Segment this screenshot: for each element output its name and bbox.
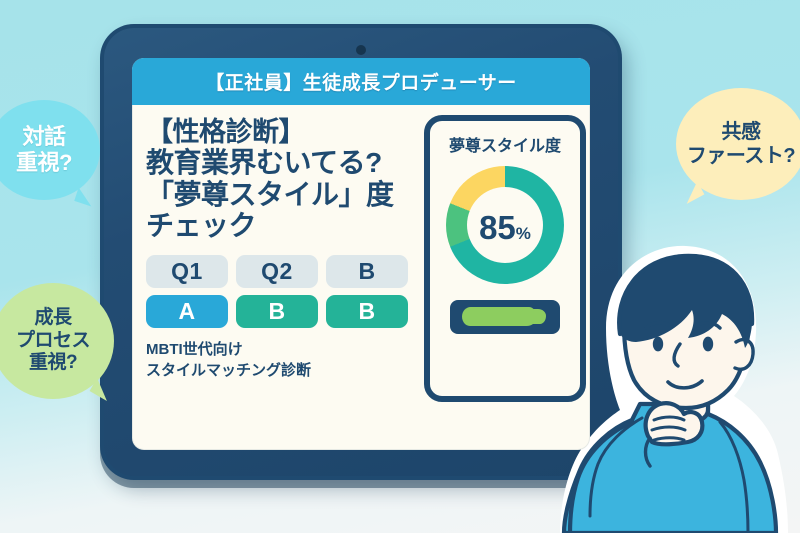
bubble-dialog-tail: [74, 188, 95, 207]
answer-grid: Q1 Q2 B A B B: [146, 255, 408, 328]
answer-option-b-1[interactable]: B: [236, 295, 318, 328]
bubble-empathy: 共感 ファースト?: [676, 88, 800, 200]
selected-answer-row: A B B: [146, 295, 408, 328]
bubble-dialog-text: 対話 重視?: [16, 124, 72, 177]
bubble-empathy-line-2: ファースト?: [687, 144, 795, 168]
answer-option-b-2[interactable]: B: [326, 295, 408, 328]
bubble-dialog-line-2: 重視?: [16, 150, 72, 176]
caption-line-2: スタイルマッチング診断: [146, 361, 414, 382]
caption-line-1: MBTI世代向け: [146, 340, 414, 361]
bubble-growth-line-1: 成長: [16, 307, 90, 330]
bubble-growth-text: 成長 プロセス 重視?: [16, 307, 90, 375]
bubble-empathy-line-1: 共感: [687, 120, 795, 144]
screen-body: 【性格診断】 教育業界むいてる? 「夢尊スタイル」度 チェック Q1 Q2 B …: [132, 105, 590, 450]
answer-option-a[interactable]: A: [146, 295, 228, 328]
caption: MBTI世代向け スタイルマッチング診断: [146, 340, 414, 381]
page-title-line-3: 「夢尊スタイル」度: [146, 179, 414, 210]
score-value: 85: [479, 187, 516, 244]
bubble-empathy-text: 共感 ファースト?: [687, 120, 795, 168]
poster-canvas: 【正社員】生徒成長プロデューサー 【性格診断】 教育業界むいてる? 「夢尊スタイ…: [0, 0, 800, 533]
bubble-growth-line-3: 重視?: [16, 352, 90, 375]
page-title-line-2: 教育業界むいてる?: [146, 147, 414, 178]
question-label-row: Q1 Q2 B: [146, 255, 408, 288]
camera-dot: [356, 45, 366, 55]
question-label-b[interactable]: B: [326, 255, 408, 288]
score-progress-fill: [462, 307, 536, 326]
question-label-q2[interactable]: Q2: [236, 255, 318, 288]
header-band: 【正社員】生徒成長プロデューサー: [132, 58, 590, 105]
score-unit: %: [516, 201, 531, 242]
bubble-growth-line-2: プロセス: [16, 330, 90, 353]
score-card-label: 夢尊スタイル度: [449, 132, 561, 156]
header-title: 【正社員】生徒成長プロデューサー: [205, 68, 517, 95]
bubble-growth: 成長 プロセス 重視?: [0, 283, 114, 399]
donut-chart: 85 %: [446, 166, 564, 284]
donut-chart-center: 85 %: [467, 187, 543, 263]
bubble-empathy-tail: [680, 181, 705, 204]
score-card: 夢尊スタイル度 85 %: [424, 115, 586, 402]
tablet-screen: 【正社員】生徒成長プロデューサー 【性格診断】 教育業界むいてる? 「夢尊スタイ…: [132, 58, 590, 450]
left-column: 【性格診断】 教育業界むいてる? 「夢尊スタイル」度 チェック Q1 Q2 B …: [146, 117, 414, 382]
question-label-q1[interactable]: Q1: [146, 255, 228, 288]
bubble-dialog-line-1: 対話: [16, 124, 72, 150]
bubble-dialog: 対話 重視?: [0, 100, 100, 200]
page-title-line-1: 【性格診断】: [146, 117, 414, 147]
tablet-device: 【正社員】生徒成長プロデューサー 【性格診断】 教育業界むいてる? 「夢尊スタイ…: [100, 24, 622, 480]
score-progress-bar: [450, 300, 560, 334]
page-title-line-4: チェック: [146, 210, 414, 241]
